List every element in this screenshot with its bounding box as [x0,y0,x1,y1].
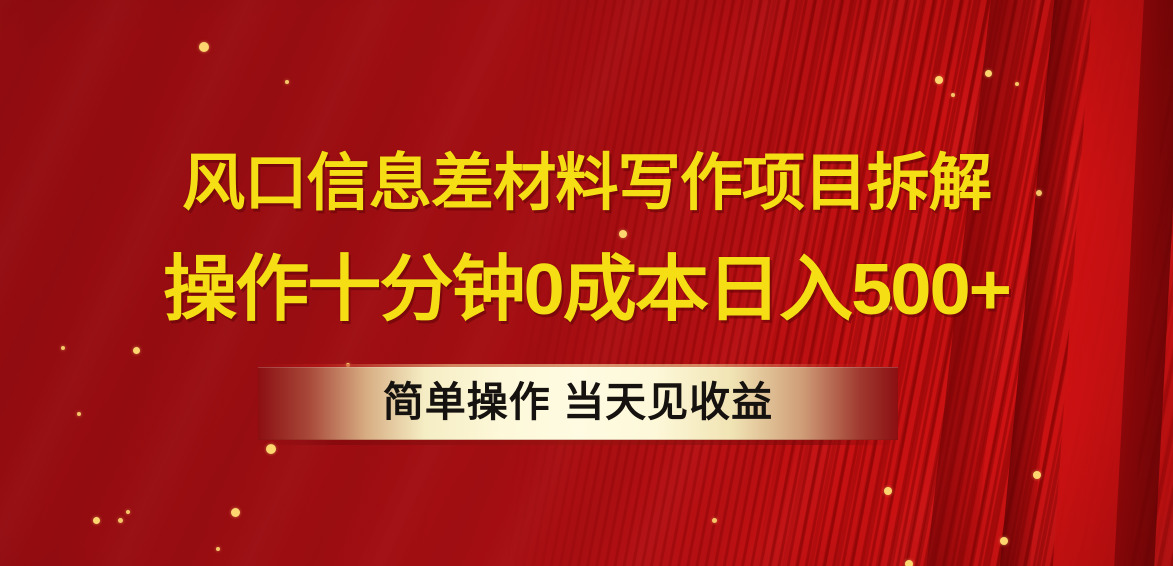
headline-stack: 风口信息差材料写作项目拆解 操作十分钟0成本日入500+ [0,0,1173,566]
poster-canvas: 风口信息差材料写作项目拆解 操作十分钟0成本日入500+ 简单操作 当天见收益 [0,0,1173,566]
banner-bottom-edge [258,440,898,445]
gold-banner: 简单操作 当天见收益 [258,367,898,440]
headline-primary: 风口信息差材料写作项目拆解 [0,148,1173,220]
headline-secondary: 操作十分钟0成本日入500+ [0,248,1173,332]
banner-subtitle: 简单操作 当天见收益 [383,382,773,423]
